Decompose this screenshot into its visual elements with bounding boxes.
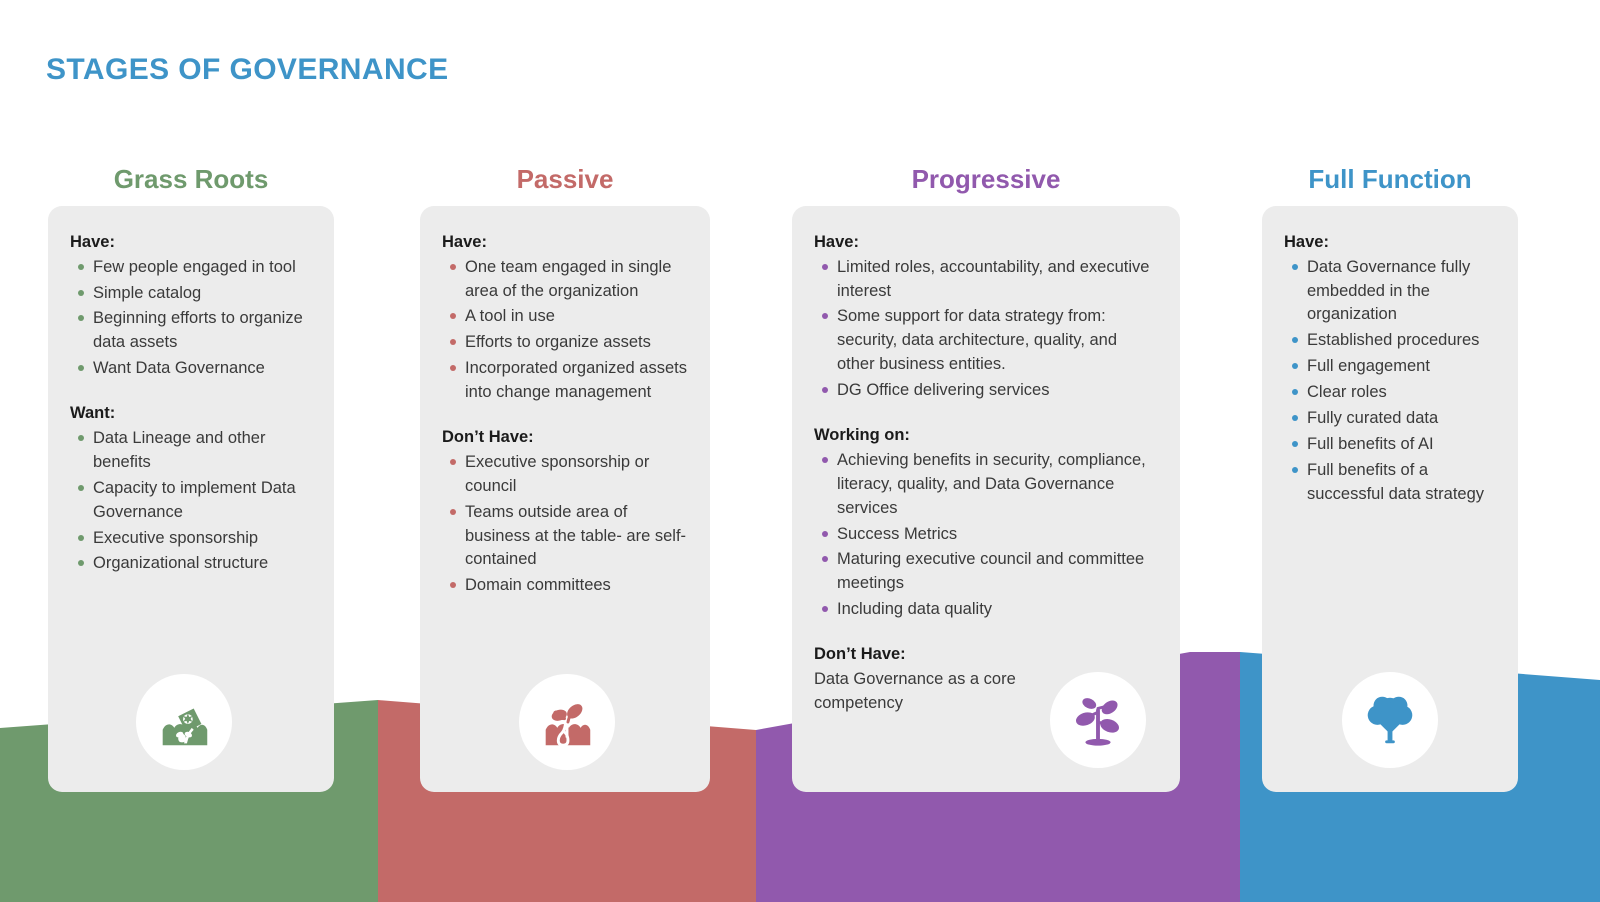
icon-badge-grass-roots [136,674,232,770]
growing-plant-icon [1067,689,1129,751]
list-item: Full benefits of a successful data strat… [1284,459,1496,507]
list-item: Capacity to implement Data Governance [70,477,312,525]
seedling-icon [536,691,598,753]
card-grass-roots: Have: Few people engaged in tool Simple … [48,206,334,792]
section-label-want: Want: [70,403,312,424]
seed-packet-icon [153,691,215,753]
list-have-grass-roots: Few people engaged in tool Simple catalo… [70,256,312,382]
section-label-working-on: Working on: [814,425,1158,446]
list-item: Efforts to organize assets [442,331,688,355]
page-title: STAGES OF GOVERNANCE [46,53,448,87]
column-grass-roots: Grass Roots Have: Few people engaged in … [48,166,334,792]
card-passive: Have: One team engaged in single area of… [420,206,710,792]
list-item: Executive sponsorship or council [442,451,688,499]
list-item: Executive sponsorship [70,527,312,551]
list-item: DG Office delivering services [814,379,1158,403]
list-item: Full engagement [1284,355,1496,379]
column-heading-progressive: Progressive [792,166,1180,192]
list-item: Maturing executive council and committee… [814,548,1158,596]
section-label-dont-have: Don’t Have: [814,644,1158,665]
list-item: Limited roles, accountability, and execu… [814,256,1158,304]
column-full-function: Full Function Have: Data Governance full… [1262,166,1518,792]
section-label-have: Have: [1284,232,1496,253]
list-item: Few people engaged in tool [70,256,312,280]
list-item: Data Lineage and other benefits [70,427,312,475]
column-heading-full-function: Full Function [1262,166,1518,192]
list-item: Including data quality [814,598,1158,622]
list-have-full-function: Data Governance fully embedded in the or… [1284,256,1496,507]
card-full-function: Have: Data Governance fully embedded in … [1262,206,1518,792]
list-item: Data Governance fully embedded in the or… [1284,256,1496,328]
section-label-have: Have: [70,232,312,253]
list-item: Organizational structure [70,552,312,576]
list-item: Some support for data strategy from: sec… [814,305,1158,377]
list-item: Success Metrics [814,523,1158,547]
icon-badge-full-function [1342,672,1438,768]
list-item: Clear roles [1284,381,1496,405]
list-want-grass-roots: Data Lineage and other benefits Capacity… [70,427,312,577]
section-label-have: Have: [442,232,688,253]
list-item: Fully curated data [1284,407,1496,431]
list-item: Full benefits of AI [1284,433,1496,457]
list-dont-have-passive: Executive sponsorship or council Teams o… [442,451,688,599]
list-have-progressive: Limited roles, accountability, and execu… [814,256,1158,404]
list-have-passive: One team engaged in single area of the o… [442,256,688,406]
column-progressive: Progressive Have: Limited roles, account… [792,166,1180,792]
section-label-have: Have: [814,232,1158,253]
icon-badge-progressive [1050,672,1146,768]
list-item: Domain committees [442,574,688,598]
list-item: Beginning efforts to organize data asset… [70,307,312,355]
list-item: A tool in use [442,305,688,329]
list-item: Incorporated organized assets into chang… [442,357,688,405]
list-item: Want Data Governance [70,357,312,381]
list-working-on-progressive: Achieving benefits in security, complian… [814,449,1158,622]
column-heading-grass-roots: Grass Roots [48,166,334,192]
section-label-dont-have: Don’t Have: [442,427,688,448]
list-item: Established procedures [1284,329,1496,353]
list-item: One team engaged in single area of the o… [442,256,688,304]
dont-have-text-progressive: Data Governance as a core competency [814,668,1029,716]
icon-badge-passive [519,674,615,770]
card-progressive: Have: Limited roles, accountability, and… [792,206,1180,792]
list-item: Teams outside area of business at the ta… [442,501,688,573]
list-item: Simple catalog [70,282,312,306]
column-passive: Passive Have: One team engaged in single… [420,166,710,792]
list-item: Achieving benefits in security, complian… [814,449,1158,521]
column-heading-passive: Passive [420,166,710,192]
tree-icon [1359,689,1421,751]
